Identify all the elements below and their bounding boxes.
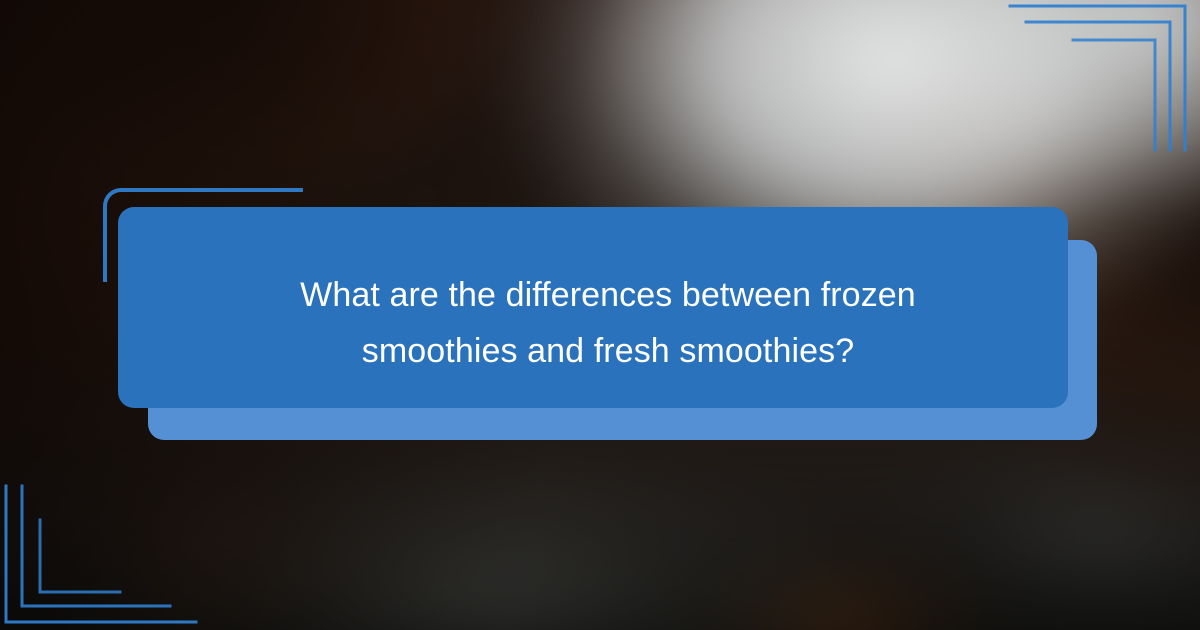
question-text: What are the differences between frozen … [258,268,958,378]
share-card-canvas: What are the differences between frozen … [0,0,1200,630]
card-text-wrapper: What are the differences between frozen … [118,207,1098,440]
question-card: What are the differences between frozen … [0,0,1200,630]
